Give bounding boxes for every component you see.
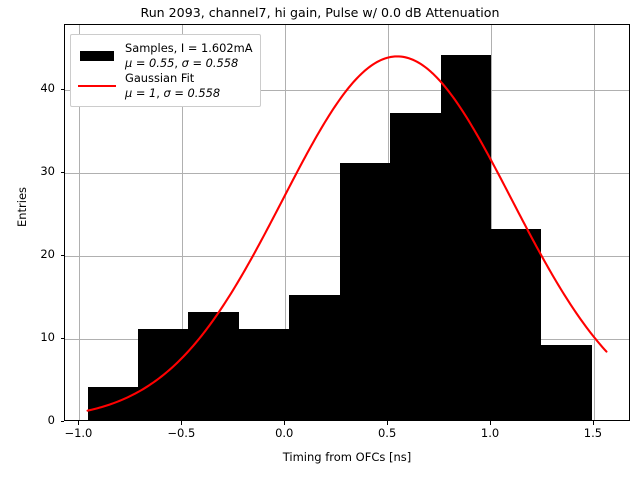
x-tick-0 (78, 421, 79, 425)
legend-fit-sigma: σ = 0.558 (164, 86, 221, 100)
x-tick-label-2: 0.0 (254, 426, 314, 440)
y-tick-2 (61, 255, 65, 256)
x-tick-1 (181, 421, 182, 425)
legend-samples-sigma: σ = 0.558 (182, 56, 239, 70)
red-line-icon (78, 85, 116, 87)
legend: Samples, I = 1.602mA μ = 0.55, σ = 0.558… (70, 34, 261, 107)
x-tick-label-4: 1.0 (460, 426, 520, 440)
x-tick-2 (284, 421, 285, 425)
x-tick-label-1: −0.5 (151, 426, 211, 440)
legend-samples-line1: Samples, I = 1.602mA (125, 41, 253, 55)
legend-entry-fit: Gaussian Fit μ = 1, σ = 0.558 (77, 71, 253, 100)
y-tick-3 (61, 172, 65, 173)
legend-fit-mu: μ = 1 (125, 86, 156, 100)
x-tick-label-3: 0.5 (357, 426, 417, 440)
x-tick-5 (593, 421, 594, 425)
legend-samples-comma: , (174, 56, 181, 70)
figure: Run 2093, channel7, hi gain, Pulse w/ 0.… (0, 0, 640, 480)
legend-samples-mu: μ = 0.55 (125, 56, 174, 70)
y-tick-4 (61, 89, 65, 90)
chart-title: Run 2093, channel7, hi gain, Pulse w/ 0.… (0, 5, 640, 20)
black-bar-patch-icon (80, 51, 114, 61)
x-tick-3 (387, 421, 388, 425)
legend-label-fit: Gaussian Fit μ = 1, σ = 0.558 (125, 71, 220, 100)
x-tick-label-5: 1.5 (563, 426, 623, 440)
y-tick-1 (61, 338, 65, 339)
y-tick-label-4: 40 (7, 81, 55, 95)
y-tick-0 (61, 421, 65, 422)
y-tick-label-0: 0 (7, 413, 55, 427)
x-axis-label: Timing from OFCs [ns] (64, 450, 630, 464)
legend-label-samples: Samples, I = 1.602mA μ = 0.55, σ = 0.558 (125, 41, 253, 70)
y-tick-label-1: 10 (7, 330, 55, 344)
legend-swatch-samples (77, 44, 117, 68)
legend-fit-line1: Gaussian Fit (125, 71, 194, 85)
x-tick-4 (490, 421, 491, 425)
legend-entry-samples: Samples, I = 1.602mA μ = 0.55, σ = 0.558 (77, 41, 253, 70)
y-axis-label: Entries (15, 107, 29, 307)
legend-swatch-fit (77, 74, 117, 98)
legend-fit-comma: , (156, 86, 163, 100)
x-tick-label-0: −1.0 (48, 426, 108, 440)
